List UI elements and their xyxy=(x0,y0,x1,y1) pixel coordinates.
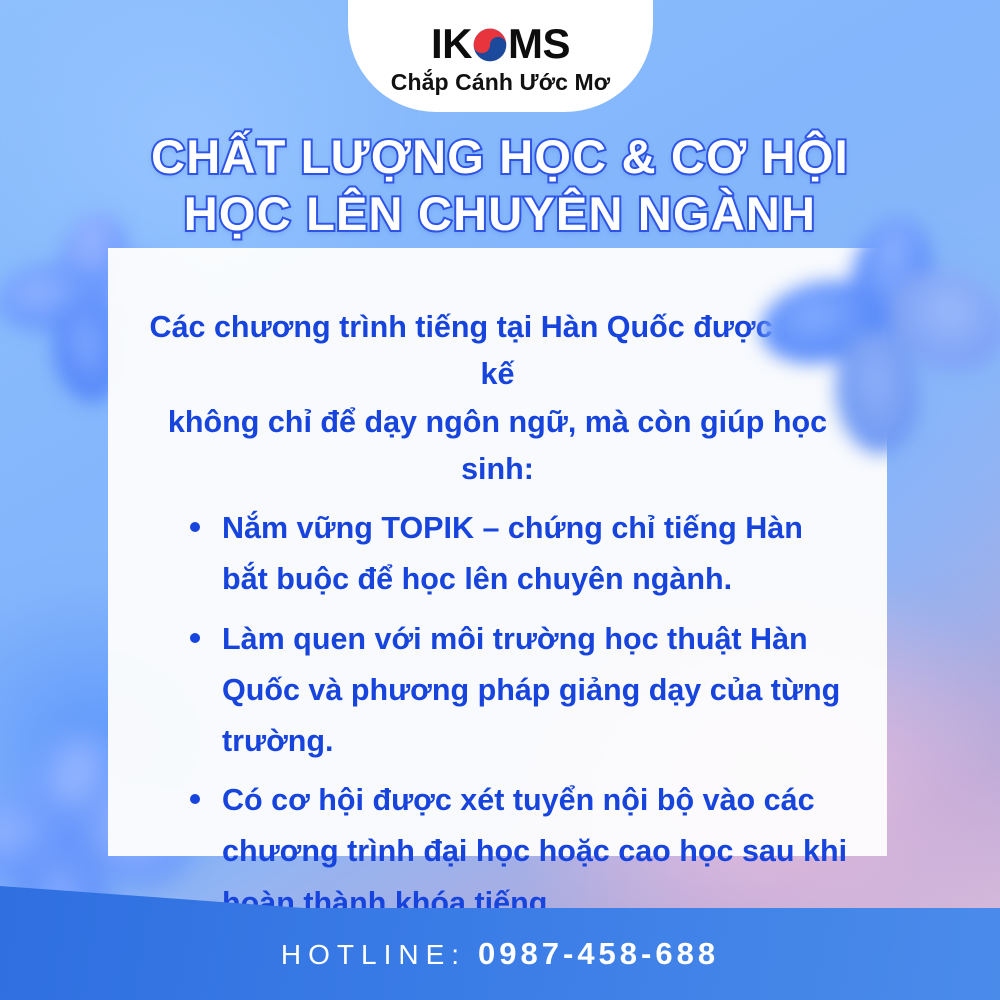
hotline-number[interactable]: 0987-458-688 xyxy=(478,936,719,972)
brand-logo: IK MS Chắp Cánh Ước Mơ xyxy=(348,0,653,112)
list-item-text: Làm quen với môi trường học thuật Hàn Qu… xyxy=(222,622,840,758)
hotline-label: HOTLINE: xyxy=(281,939,466,971)
list-item-text: Có cơ hội được xét tuyển nội bộ vào các … xyxy=(222,783,847,919)
taegeuk-icon xyxy=(473,27,507,61)
bullet-dot-icon xyxy=(190,794,200,804)
wordmark-right-text: MS xyxy=(508,23,570,65)
wordmark-left-text: IK xyxy=(431,23,472,65)
hotline-block: HOTLINE: 0987-458-688 xyxy=(281,936,719,972)
list-item: Làm quen với môi trường học thuật Hàn Qu… xyxy=(190,614,851,768)
poster-canvas: IK MS Chắp Cánh Ước Mơ CHẤT LƯỢNG HỌC & … xyxy=(0,0,1000,1000)
intro-paragraph: Các chương trình tiếng tại Hàn Quốc được… xyxy=(138,304,857,493)
brand-wordmark: IK MS xyxy=(431,23,570,65)
list-item: Có cơ hội được xét tuyển nội bộ vào các … xyxy=(190,775,851,929)
bullet-dot-icon xyxy=(190,633,200,643)
brand-tagline: Chắp Cánh Ước Mơ xyxy=(391,71,611,94)
flower-decoration-right-icon xyxy=(774,222,994,452)
bullet-dot-icon xyxy=(190,522,200,532)
list-item-text: Nắm vững TOPIK – chứng chỉ tiếng Hàn bắt… xyxy=(222,511,803,596)
benefit-list: Nắm vững TOPIK – chứng chỉ tiếng Hàn bắt… xyxy=(138,503,857,929)
list-item: Nắm vững TOPIK – chứng chỉ tiếng Hàn bắt… xyxy=(190,503,851,605)
footer-bar: HOTLINE: 0987-458-688 xyxy=(0,908,1000,1000)
